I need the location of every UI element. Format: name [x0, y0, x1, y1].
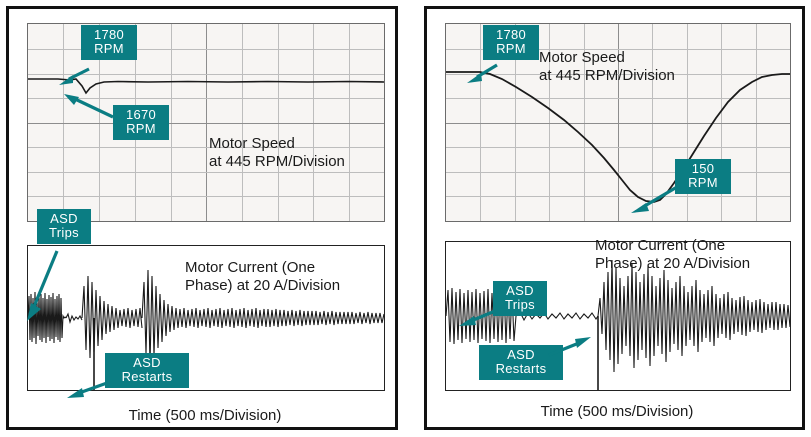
right-time-axis-label: Time (500 ms/Division): [445, 403, 789, 420]
right-speed-high-arrow: [463, 61, 501, 87]
left-speed-low-arrow: [57, 91, 119, 127]
left-motor-current-label: Motor Current (One Phase) at 20 A/Divisi…: [185, 259, 340, 295]
left-asd-restarts-callout: ASD Restarts: [105, 353, 189, 388]
left-asd-trips-arrow: [19, 247, 75, 321]
right-motor-current-label: Motor Current (One Phase) at 20 A/Divisi…: [595, 237, 750, 273]
right-panel: 1780 RPM Motor Speed at 445 RPM/Division…: [424, 6, 805, 430]
right-speed-low-arrow: [623, 181, 681, 215]
left-speed-low-callout: 1670 RPM: [113, 105, 169, 140]
right-asd-restarts-arrow: [543, 333, 595, 361]
left-panel: 1780 RPM 1670 RPM Motor Speed at 445 RPM…: [6, 6, 398, 430]
right-speed-low-callout: 150 RPM: [675, 159, 731, 194]
left-asd-trips-callout: ASD Trips: [37, 209, 91, 244]
left-asd-restarts-arrow: [59, 377, 113, 403]
left-speed-high-callout: 1780 RPM: [81, 25, 137, 60]
right-asd-trips-arrow: [453, 307, 501, 329]
left-time-axis-label: Time (500 ms/Division): [27, 407, 383, 424]
figure-root: 1780 RPM 1670 RPM Motor Speed at 445 RPM…: [0, 0, 811, 437]
right-motor-speed-label: Motor Speed at 445 RPM/Division: [539, 49, 675, 85]
right-speed-high-callout: 1780 RPM: [483, 25, 539, 60]
left-speed-high-arrow: [53, 63, 93, 91]
right-asd-trips-callout: ASD Trips: [493, 281, 547, 316]
left-motor-speed-label: Motor Speed at 445 RPM/Division: [209, 135, 345, 171]
